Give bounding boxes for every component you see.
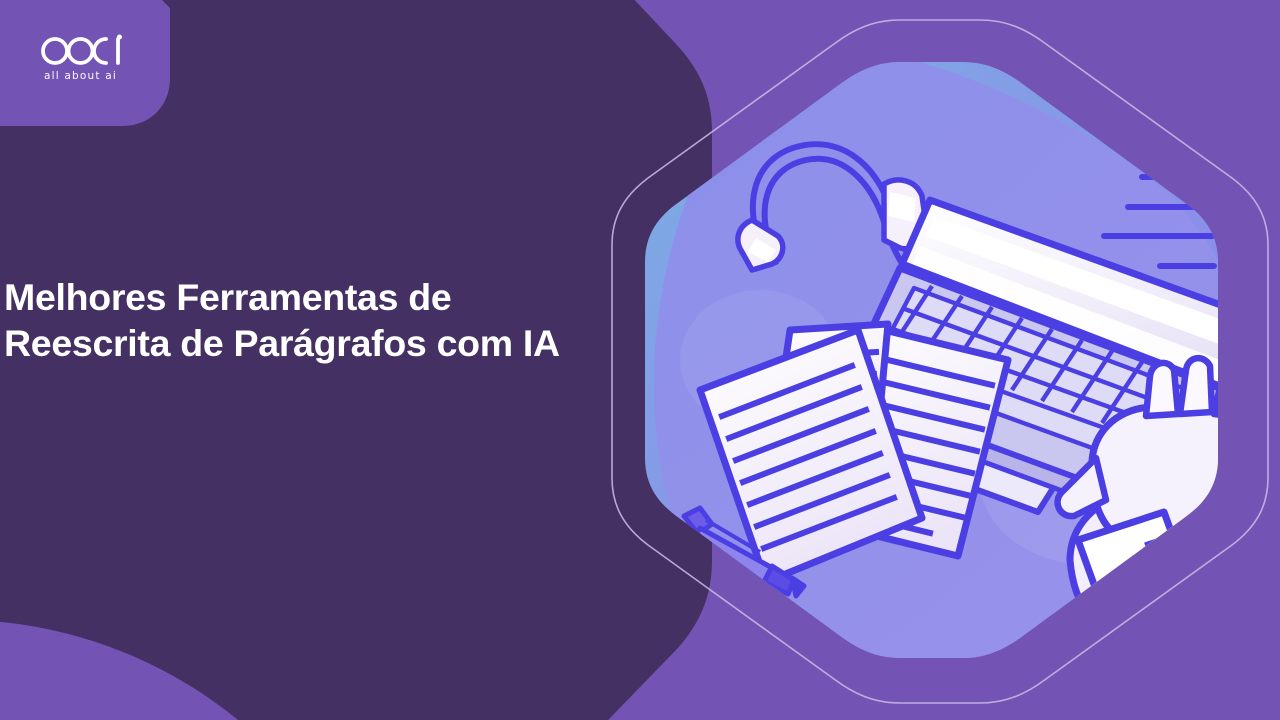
banner-canvas: all about ai Melhores Ferramentas de Ree… [0, 0, 1280, 720]
page-title-line-1: Melhores Ferramentas de [4, 274, 644, 320]
logo-tab-shape [0, 0, 170, 126]
page-title: Melhores Ferramentas de Reescrita de Par… [4, 274, 644, 366]
page-title-line-2: Reescrita de Parágrafos com IA [4, 320, 644, 366]
